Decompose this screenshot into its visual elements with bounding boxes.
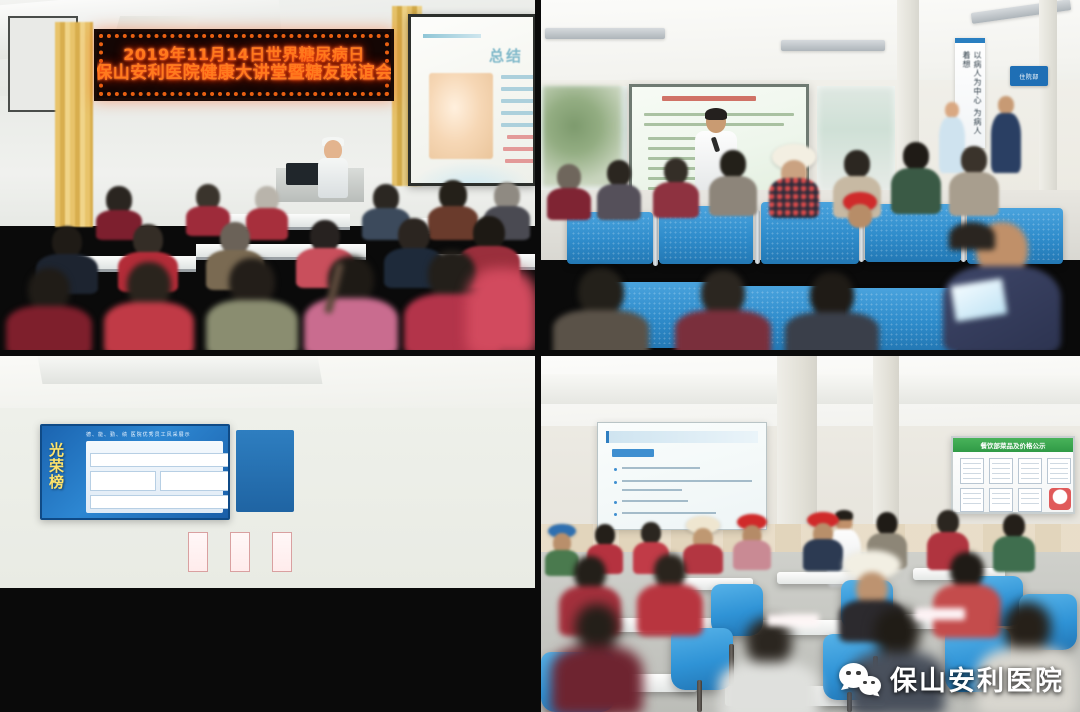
ceiling-light [545, 28, 665, 39]
lecture-hall-scene: 2019年11月14日世界糖尿病日 保山安利医院健康大讲堂暨糖友联谊会 总结 [0, 0, 535, 350]
papers-on-table [767, 614, 819, 626]
lobby-scene: 德、能、勤、绩 医院优秀员工风采展示 光荣榜 保山安利医院2017年联合国糖尿病… [0, 356, 535, 712]
menu-board-header: 餐饮部菜品及价格公示 [953, 438, 1073, 452]
audience-member [709, 150, 757, 214]
led-banner-line-2: 保山安利医院健康大讲堂暨糖友联谊会 [95, 65, 393, 83]
honor-board-content [86, 441, 223, 513]
audience-member [206, 258, 298, 350]
led-banner-line-1: 2019年11月14日世界糖尿病日 [123, 47, 365, 64]
audience-member [6, 268, 92, 350]
audience-member [785, 272, 879, 350]
audience-member [104, 262, 194, 350]
slide-heading-bar [606, 431, 758, 443]
projection-screen [597, 422, 767, 530]
nurse-uniform [318, 158, 348, 198]
wechat-watermark: 保山安利医院 [839, 659, 1064, 698]
department-wall-sign: 住院部 [1010, 66, 1048, 86]
wechat-eye [871, 681, 875, 685]
wechat-icon [839, 663, 881, 695]
wall-poster [188, 532, 208, 572]
wechat-bubble-small [859, 676, 881, 695]
info-board-blue [236, 430, 294, 512]
photo-collage: 2019年11月14日世界糖尿病日 保山安利医院健康大讲堂暨糖友联谊会 总结 [0, 0, 1080, 712]
audience-member [891, 142, 941, 214]
wechat-eye [856, 671, 861, 676]
bench-armrest [653, 214, 658, 266]
audience-member [637, 554, 703, 632]
audience-member-with-hat [769, 146, 819, 214]
honor-board-slogan: 德、能、勤、绩 医院优秀员工风采展示 [86, 431, 224, 439]
audience-member [466, 268, 535, 350]
wechat-account-name: 保山安利医院 [890, 659, 1064, 698]
audience-member [653, 158, 699, 216]
slide-header-rule [423, 34, 481, 38]
audience-member [304, 256, 398, 350]
audience-member-with-cap [803, 514, 843, 568]
nurse-head [324, 140, 342, 160]
ceiling-beam [38, 356, 323, 384]
audience-member [551, 604, 643, 712]
audience-member [949, 146, 999, 216]
bench-armrest [755, 210, 760, 264]
honor-board-title: 光荣榜 [48, 442, 63, 490]
slide-title: 总结 [489, 45, 523, 66]
nurse-speaker [316, 140, 350, 196]
projection-screen: 总结 [408, 14, 535, 186]
audience-member-with-cap [733, 516, 771, 568]
wechat-eye [863, 681, 867, 685]
audience-member [597, 160, 641, 218]
chair-leg [697, 680, 702, 712]
honor-roll-board: 德、能、勤、绩 医院优秀员工风采展示 光荣榜 [40, 424, 230, 520]
department-sign-text: 住院部 [1010, 66, 1048, 86]
menu-board-title: 餐饮部菜品及价格公示 [981, 440, 1046, 450]
speaker-hair [705, 108, 727, 120]
papers-on-table [915, 608, 965, 620]
slide-title-bar [662, 96, 756, 101]
collage-panel-top-left: 2019年11月14日世界糖尿病日 保山安利医院健康大讲堂暨糖友联谊会 总结 [0, 0, 535, 350]
pillar [1039, 0, 1057, 210]
audience-member [547, 164, 591, 218]
audience-member-with-cap [837, 194, 883, 252]
collage-panel-top-right: 以病人为中心 为病人着想 住院部 [541, 0, 1080, 350]
wall-poster [272, 532, 292, 572]
ceiling-light [781, 40, 885, 51]
audience-member [675, 270, 771, 350]
led-marquee-banner: 2019年11月14日世界糖尿病日 保山安利医院健康大讲堂暨糖友联谊会 [94, 29, 394, 101]
chef-mascot-icon [1049, 488, 1071, 510]
slide-subheading [612, 449, 654, 457]
collage-panel-bottom-left: 德、能、勤、绩 医院优秀员工风采展示 光荣榜 保山安利医院2017年联合国糖尿病… [0, 356, 535, 712]
wall-poster [230, 532, 250, 572]
speaker-hall-scene: 以病人为中心 为病人着想 住院部 [541, 0, 1080, 350]
menu-price-board: 餐饮部菜品及价格公示 [951, 436, 1075, 514]
audience-member [553, 268, 649, 350]
wechat-eye [846, 671, 851, 676]
audience-member [719, 618, 819, 712]
slide-photo [429, 73, 493, 159]
